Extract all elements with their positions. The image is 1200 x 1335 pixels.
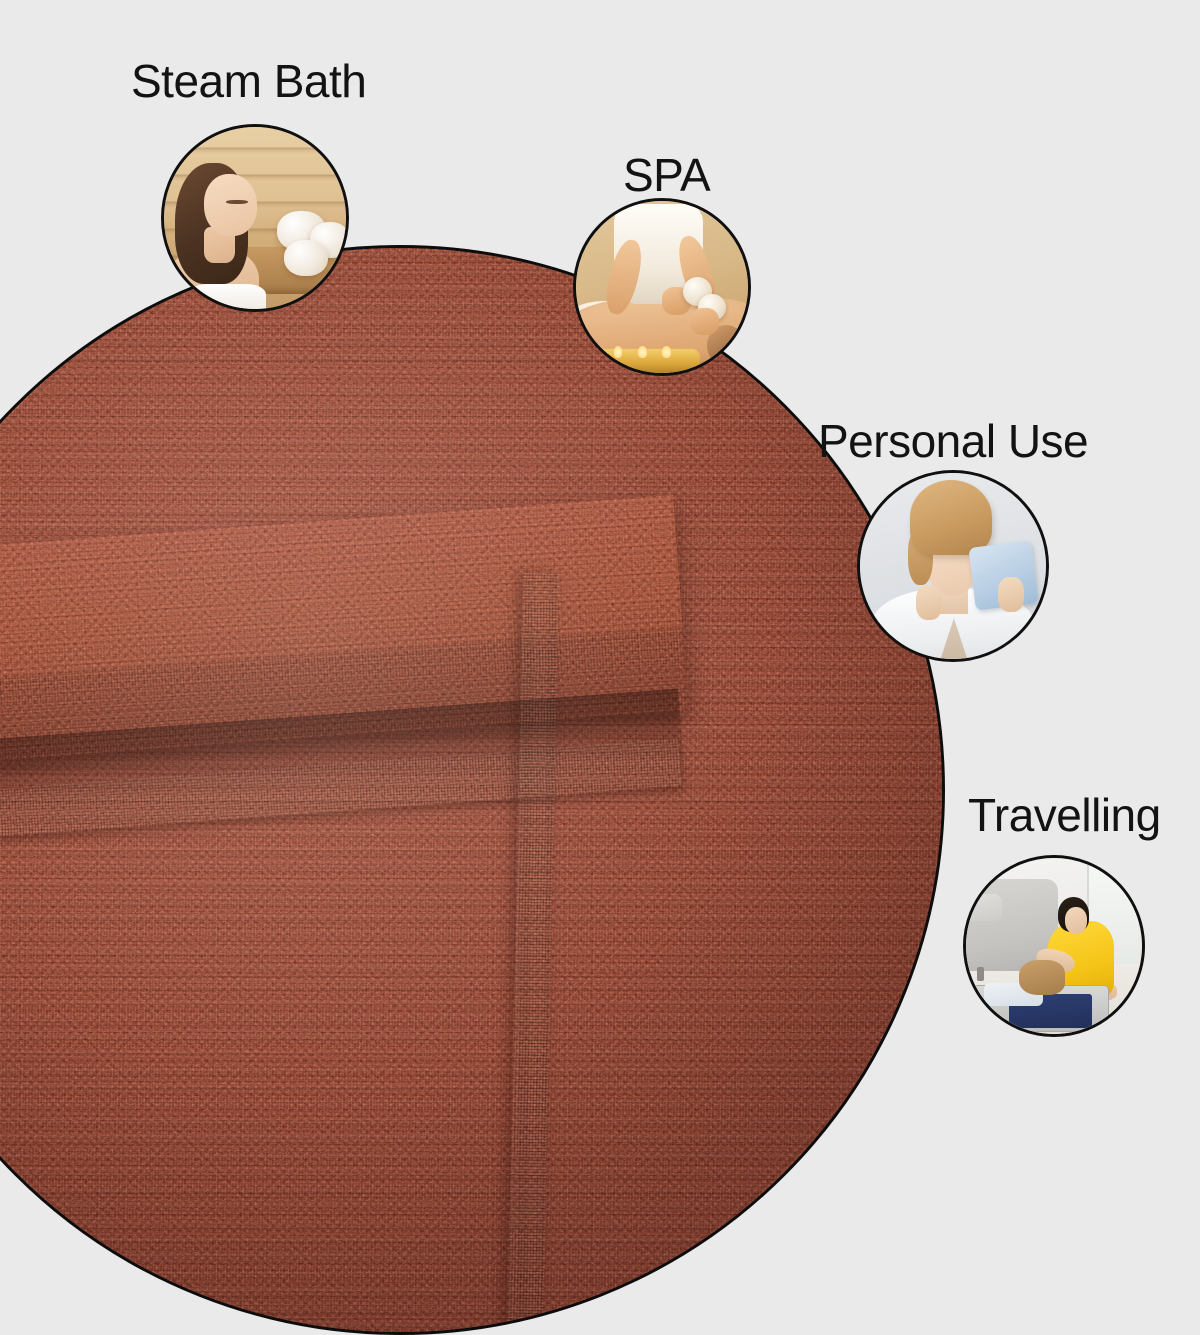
- candle-flame: [638, 346, 647, 358]
- personal-use-scene: [860, 473, 1046, 659]
- woman-hand-left: [916, 585, 942, 620]
- travelling-scene: [966, 858, 1142, 1034]
- spa-scene: [576, 201, 748, 373]
- woman-hand-right: [998, 577, 1024, 612]
- label-travelling: Travelling: [968, 792, 1161, 838]
- label-personal-use: Personal Use: [818, 418, 1088, 464]
- woman-face: [1065, 907, 1088, 933]
- label-steam-bath: Steam Bath: [131, 58, 366, 104]
- folded-towel: [1019, 960, 1065, 995]
- sauna-scene: [164, 127, 346, 309]
- candle-flame: [662, 346, 671, 358]
- candle-tray: [593, 349, 700, 376]
- towel-hero-image: [0, 245, 945, 1335]
- therapist-hand-right: [690, 308, 719, 336]
- woman-towel-wrap: [186, 284, 266, 312]
- woman-face: [204, 174, 257, 236]
- candle-flame: [614, 346, 623, 358]
- sofa-leg: [977, 967, 984, 981]
- sofa-cushion: [963, 894, 1002, 921]
- rolled-towel: [284, 240, 328, 276]
- bubble-travelling: [963, 855, 1145, 1037]
- bubble-personal-use: [857, 470, 1049, 662]
- bubble-steam-bath: [161, 124, 349, 312]
- bubble-spa: [573, 198, 751, 376]
- towel-turban: [910, 480, 992, 554]
- label-spa: SPA: [623, 152, 710, 198]
- infographic-canvas: Steam Bath SPA: [0, 0, 1200, 1200]
